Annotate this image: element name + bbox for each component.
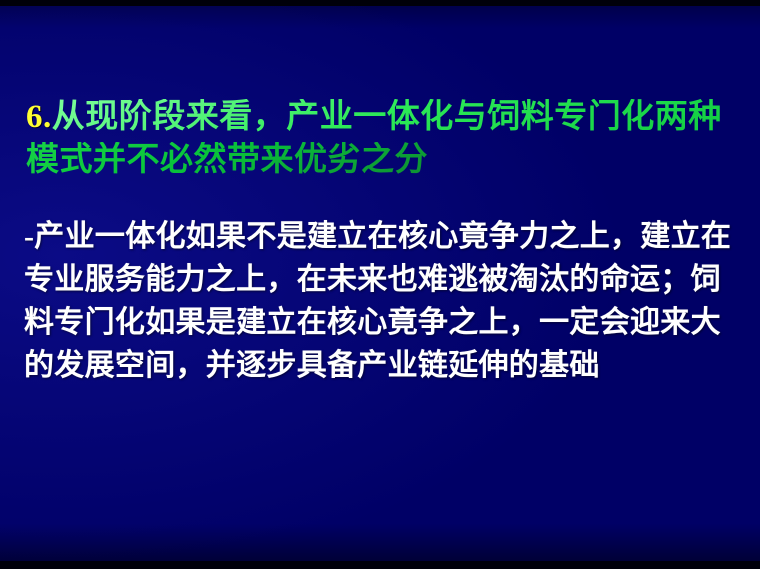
title-text: 从现阶段来看，产业一体化与饲料专门化两种模式并不必然带来优劣之分: [26, 99, 722, 178]
slide-title: 6.从现阶段来看，产业一体化与饲料专门化两种模式并不必然带来优劣之分: [26, 96, 732, 182]
slide-body-paragraph: -产业一体化如果不是建立在核心竟争力之上，建立在专业服务能力之上，在未来也难逃被…: [24, 216, 740, 388]
slide-canvas: 6.从现阶段来看，产业一体化与饲料专门化两种模式并不必然带来优劣之分 -产业一体…: [0, 0, 760, 569]
title-number: 6.: [26, 99, 52, 135]
letterbox-top-bar: [0, 0, 760, 6]
letterbox-bottom-bar: [0, 561, 760, 569]
